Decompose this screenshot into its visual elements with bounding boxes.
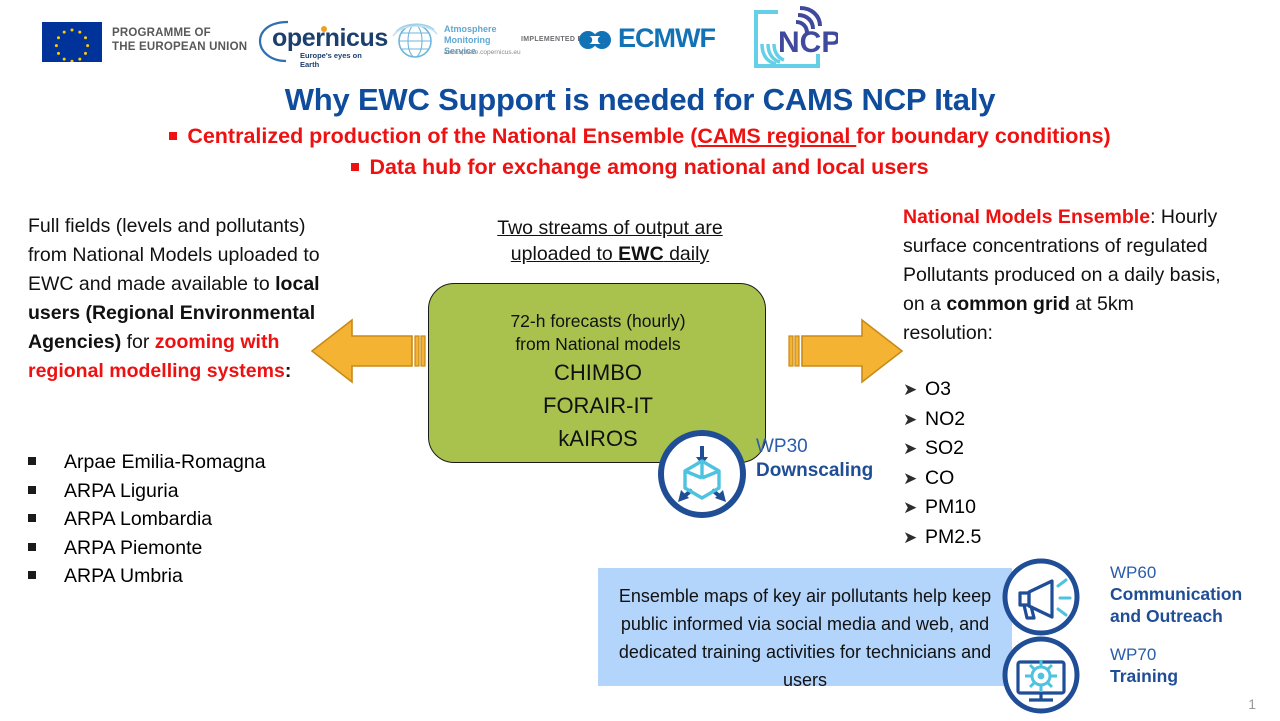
center-heading-b: daily: [664, 243, 710, 265]
list-item: ARPA Liguria: [28, 477, 348, 506]
wp30-badge: [656, 428, 748, 525]
agency-label: ARPA Umbria: [64, 565, 183, 587]
square-bullet-icon: [351, 163, 359, 171]
list-item: ➤PM10: [903, 493, 1163, 523]
wp60-name-line1: Communication: [1110, 583, 1242, 605]
list-item: ➤CO: [903, 464, 1163, 494]
list-item: ARPA Umbria: [28, 562, 348, 591]
wp60-name-line2: and Outreach: [1110, 605, 1242, 627]
right-heading-red: National Models Ensemble: [903, 206, 1150, 228]
arrow-bullet-icon: ➤: [903, 465, 925, 494]
square-bullet-icon: [28, 486, 36, 494]
subtitle-1a: Centralized production of the National E…: [187, 124, 697, 148]
pollutant-label: PM2.5: [925, 526, 981, 548]
arrow-bullet-icon: ➤: [903, 435, 925, 464]
pollutant-label: PM10: [925, 496, 976, 518]
downscaling-cube-icon: [656, 428, 748, 520]
copernicus-tagline: Europe's eyes on Earth: [300, 51, 376, 69]
eu-programme-line1: PROGRAMME OF: [112, 26, 247, 40]
eu-programme-label: PROGRAMME OF THE EUROPEAN UNION: [112, 26, 247, 54]
model-name: FORAIR-IT: [429, 389, 767, 422]
left-text-5: :: [285, 360, 292, 382]
eu-programme-line2: THE EUROPEAN UNION: [112, 40, 247, 54]
ncp-logo-icon: NCP: [742, 4, 838, 74]
pollutant-label: CO: [925, 467, 954, 489]
subtitle-line-1: Centralized production of the National E…: [0, 124, 1280, 149]
subtitle-1b: for boundary conditions): [856, 124, 1110, 148]
wp30-label: WP30 Downscaling: [756, 435, 873, 483]
wp70-name: Training: [1110, 665, 1178, 687]
subtitle-1-underlined: CAMS regional: [697, 124, 856, 148]
wp70-code: WP70: [1110, 645, 1156, 664]
arrow-bullet-icon: ➤: [903, 376, 925, 405]
wp30-code: WP30: [756, 436, 808, 457]
monitor-gear-icon: [1000, 634, 1082, 716]
cams-logo-icon: Atmosphere Monitoring Service atmosphere…: [392, 16, 522, 64]
right-text-bold: common grid: [946, 293, 1070, 315]
pollutant-label: O3: [925, 378, 951, 400]
outreach-box: Ensemble maps of key air pollutants help…: [598, 568, 1012, 686]
forecast-line1: 72-h forecasts (hourly): [510, 311, 685, 331]
megaphone-icon: [1000, 556, 1082, 638]
list-item: ➤PM2.5: [903, 523, 1163, 553]
arrow-bullet-icon: ➤: [903, 524, 925, 553]
square-bullet-icon: [28, 571, 36, 579]
eu-flag-icon: [42, 22, 102, 62]
right-heading-colon: :: [1150, 206, 1155, 228]
agency-label: ARPA Piemonte: [64, 537, 202, 559]
svg-text:NCP: NCP: [778, 26, 838, 59]
ecmwf-logo-icon: ECMWF: [578, 26, 723, 56]
left-text-3: for: [121, 331, 155, 353]
list-item: ARPA Lombardia: [28, 505, 348, 534]
right-arrow-icon: [784, 315, 906, 392]
agency-label: ARPA Lombardia: [64, 508, 212, 530]
ecmwf-mark-icon: [578, 29, 614, 51]
page-title: Why EWC Support is needed for CAMS NCP I…: [0, 82, 1280, 118]
model-name: CHIMBO: [429, 356, 767, 389]
wp60-code: WP60: [1110, 563, 1156, 582]
wp70-badge: [1000, 634, 1082, 721]
wp60-label: WP60 Communication and Outreach: [1110, 562, 1242, 627]
forecast-line2: from National models: [515, 334, 680, 354]
outreach-text: Ensemble maps of key air pollutants help…: [608, 582, 1002, 694]
subtitle-line-2: Data hub for exchange among national and…: [0, 155, 1280, 180]
arrow-bullet-icon: ➤: [903, 494, 925, 523]
copernicus-wordmark: opernicus: [272, 24, 388, 53]
right-description: National Models Ensemble: Hourly surface…: [903, 203, 1223, 348]
left-arrow-icon: [308, 315, 430, 392]
logo-bar: PROGRAMME OF THE EUROPEAN UNION opernicu…: [0, 0, 1280, 78]
wp60-badge: [1000, 556, 1082, 643]
square-bullet-icon: [28, 457, 36, 465]
center-heading: Two streams of output are uploaded to EW…: [460, 215, 760, 267]
square-bullet-icon: [169, 132, 177, 140]
ncp-glyph-icon: NCP: [742, 4, 838, 74]
list-item: ➤NO2: [903, 405, 1163, 435]
eu-stars-icon: [42, 22, 102, 62]
subtitle-2-text: Data hub for exchange among national and…: [369, 155, 928, 179]
cams-globe-icon: [392, 18, 438, 62]
agency-label: Arpae Emilia-Romagna: [64, 451, 266, 473]
wp70-label: WP70 Training: [1110, 644, 1178, 687]
copernicus-logo-icon: opernicus Europe's eyes on Earth: [258, 18, 376, 64]
page-number: 1: [1248, 696, 1256, 712]
arrow-bullet-icon: ➤: [903, 406, 925, 435]
agency-list: Arpae Emilia-Romagna ARPA Liguria ARPA L…: [28, 448, 348, 591]
pollutant-label: SO2: [925, 437, 964, 459]
left-description: Full fields (levels and pollutants) from…: [28, 212, 328, 386]
center-heading-bold: EWC: [618, 243, 664, 265]
list-item: ARPA Piemonte: [28, 534, 348, 563]
square-bullet-icon: [28, 543, 36, 551]
wp30-name: Downscaling: [756, 459, 873, 483]
list-item: ➤O3: [903, 375, 1163, 405]
square-bullet-icon: [28, 514, 36, 522]
cams-url-label: atmosphere.copernicus.eu: [444, 49, 521, 56]
cams-line1: Atmosphere: [444, 24, 522, 35]
agency-label: ARPA Liguria: [64, 480, 179, 502]
ecmwf-wordmark: ECMWF: [618, 23, 715, 54]
list-item: Arpae Emilia-Romagna: [28, 448, 348, 477]
pollutant-list: ➤O3 ➤NO2 ➤SO2 ➤CO ➤PM10 ➤PM2.5: [903, 375, 1163, 552]
copernicus-dot-icon: [321, 26, 327, 32]
list-item: ➤SO2: [903, 434, 1163, 464]
pollutant-label: NO2: [925, 408, 965, 430]
